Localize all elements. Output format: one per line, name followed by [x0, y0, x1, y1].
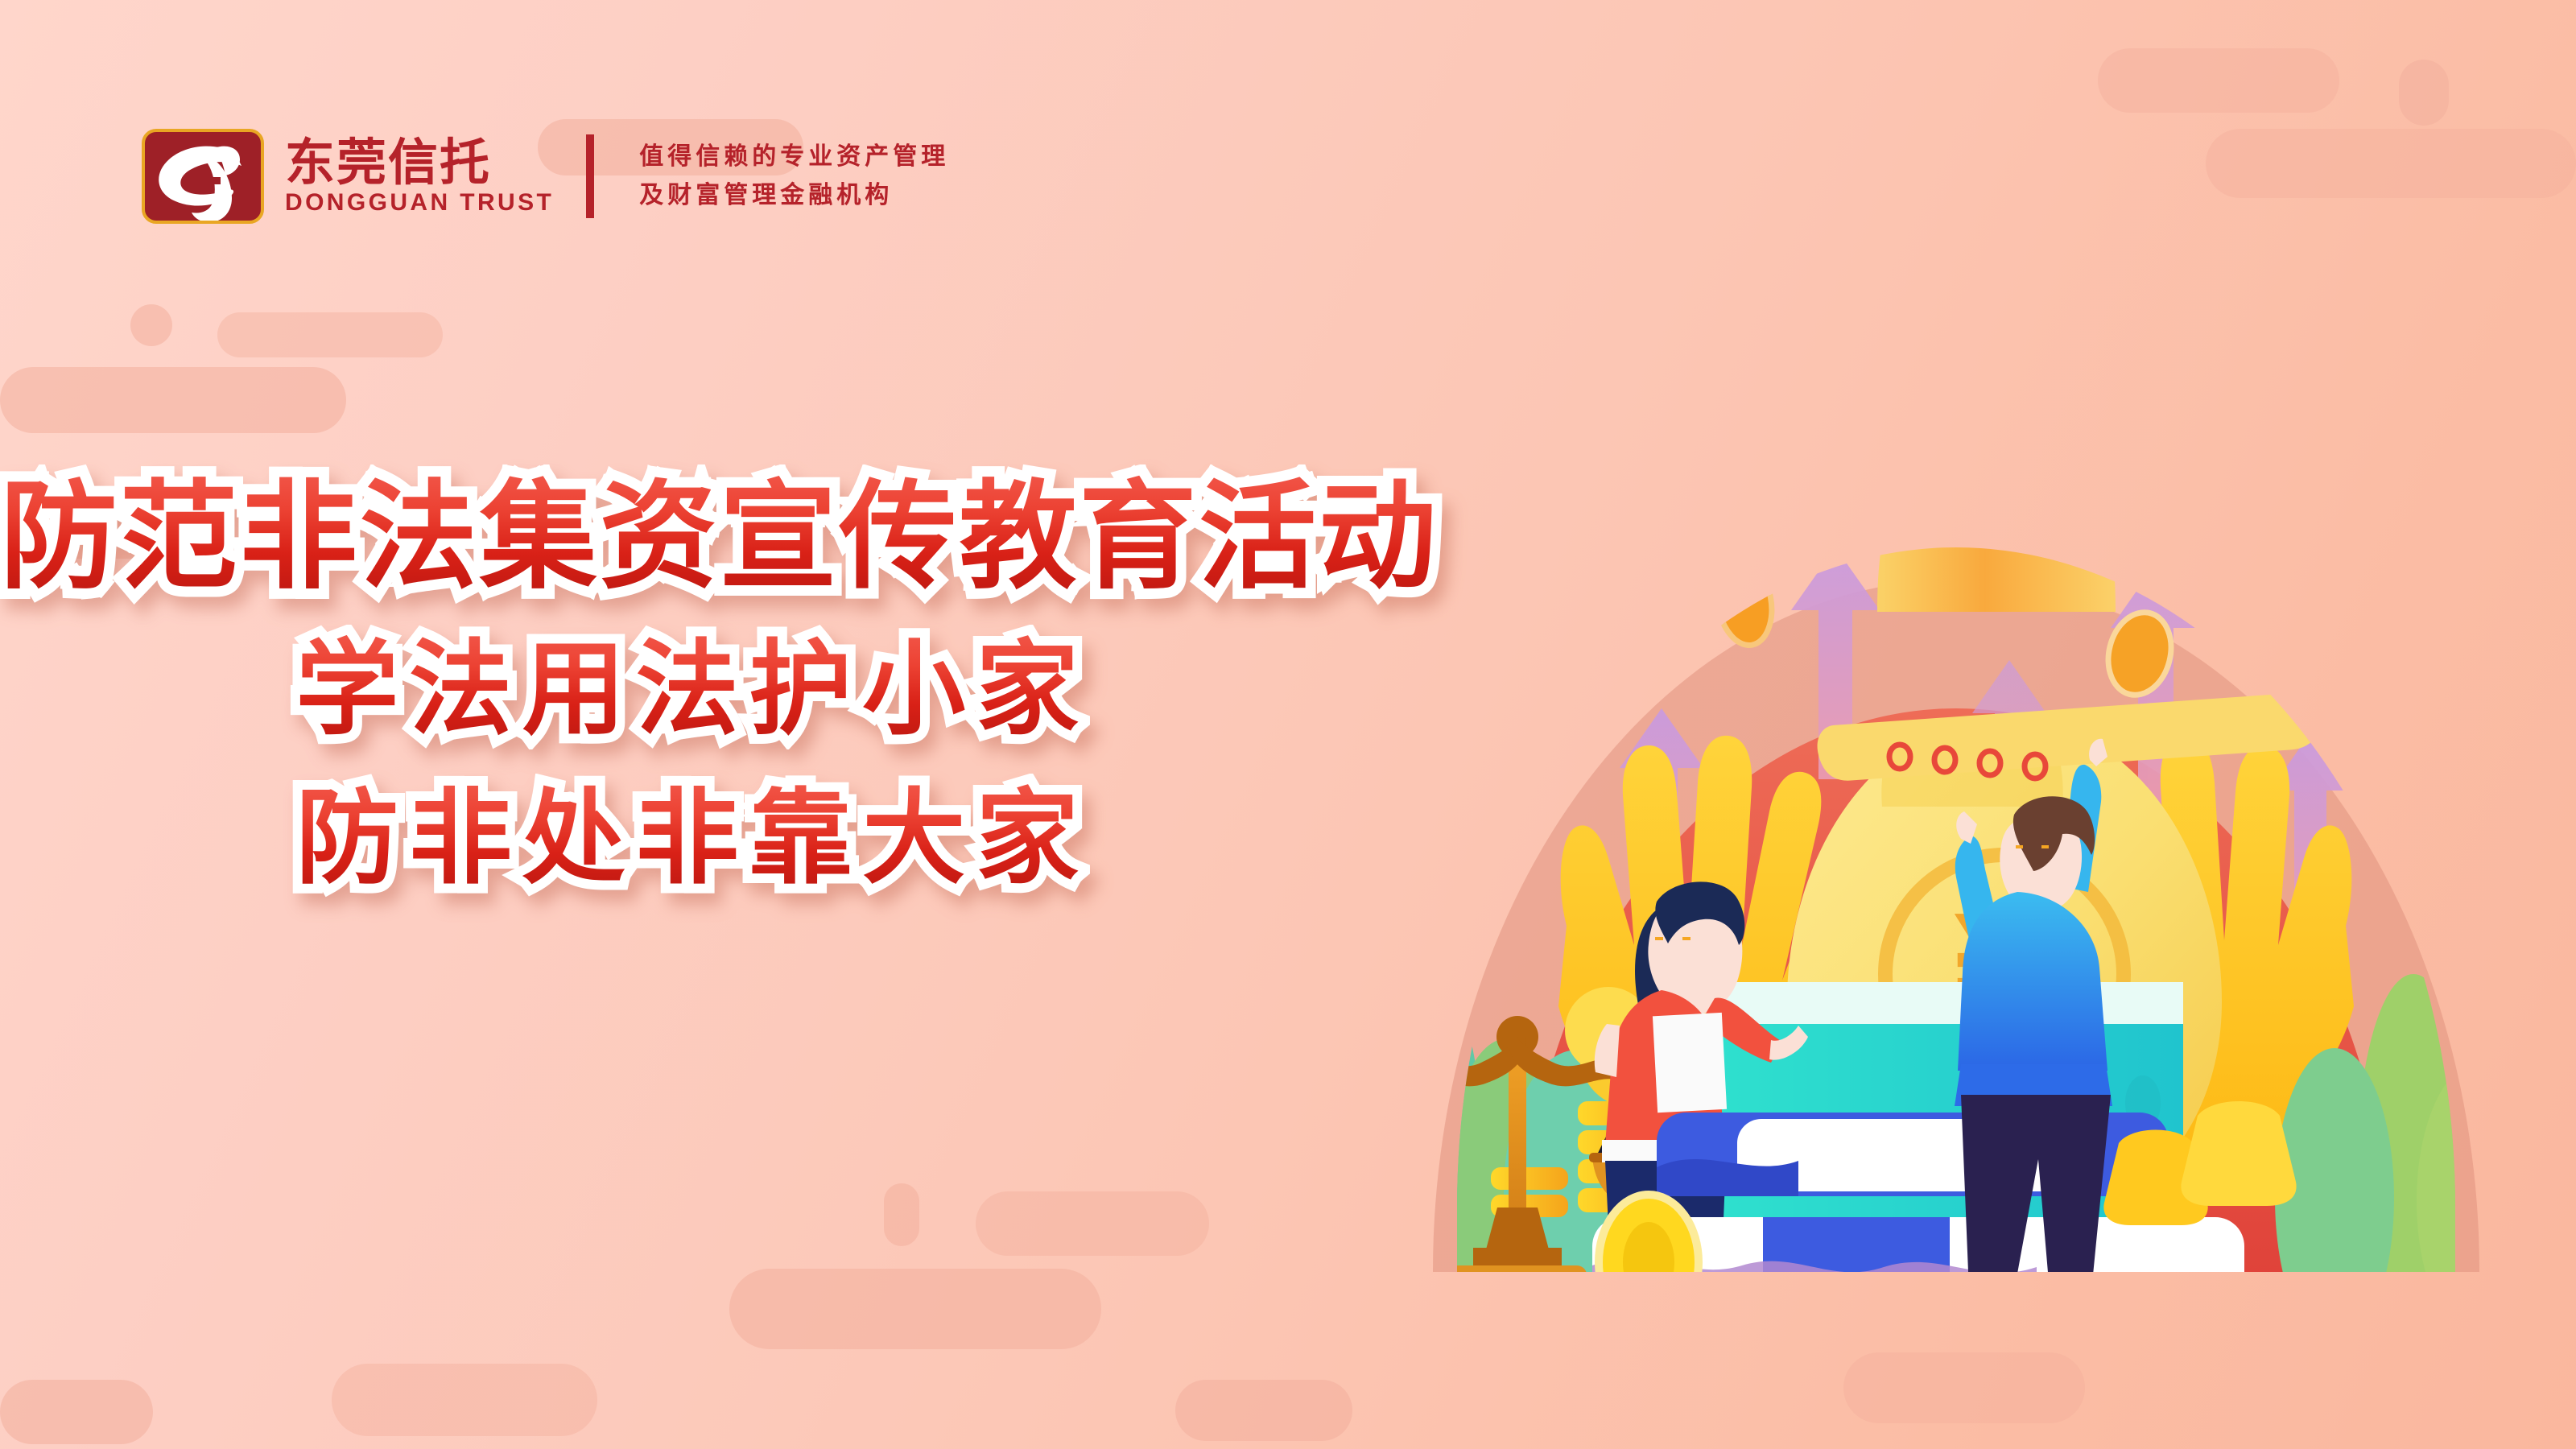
brand-name-en: DONGGUAN TRUST: [285, 191, 554, 215]
background-pill: [0, 1380, 153, 1444]
background-pill: [1175, 1380, 1352, 1441]
illustration-artwork: ¥: [1336, 97, 2576, 1449]
brand-tagline-line2: 及财富管理金融机构: [639, 184, 949, 208]
headline-line-3-fill: 防非处非靠大家: [295, 778, 1089, 898]
brand-tagline-line1: 值得信赖的专业资产管理: [639, 145, 949, 169]
background-pill: [884, 1183, 919, 1246]
headline-line-1: 防范非法集资宣传教育活动 防范非法集资宣传教育活动: [0, 475, 1385, 600]
background-pill: [217, 312, 443, 357]
headline-line-3: 防非处非靠大家 防非处非靠大家: [0, 784, 1385, 894]
poster-canvas: ¥: [0, 0, 2576, 1449]
background-pill: [0, 367, 346, 433]
brand-lockup: 东莞信托 DONGGUAN TRUST 值得信赖的专业资产管理 及财富管理金融机…: [142, 129, 949, 224]
background-pill: [976, 1191, 1209, 1256]
headline-line-1-fill: 防范非法集资宣传教育活动: [0, 469, 1439, 605]
headline-line-2-fill: 学法用法护小家: [295, 630, 1089, 749]
background-pill: [332, 1364, 597, 1436]
dongguan-trust-swoosh-logo: [142, 129, 264, 224]
brand-name-cn: 东莞信托: [285, 138, 554, 188]
headline-block: 防范非法集资宣传教育活动 防范非法集资宣传教育活动 学法用法护小家 学法用法护小…: [0, 475, 1385, 894]
brand-divider: [586, 134, 594, 218]
background-pill: [130, 304, 172, 346]
background-pill: [729, 1269, 1101, 1349]
headline-line-2: 学法用法护小家 学法用法护小家: [0, 635, 1385, 745]
